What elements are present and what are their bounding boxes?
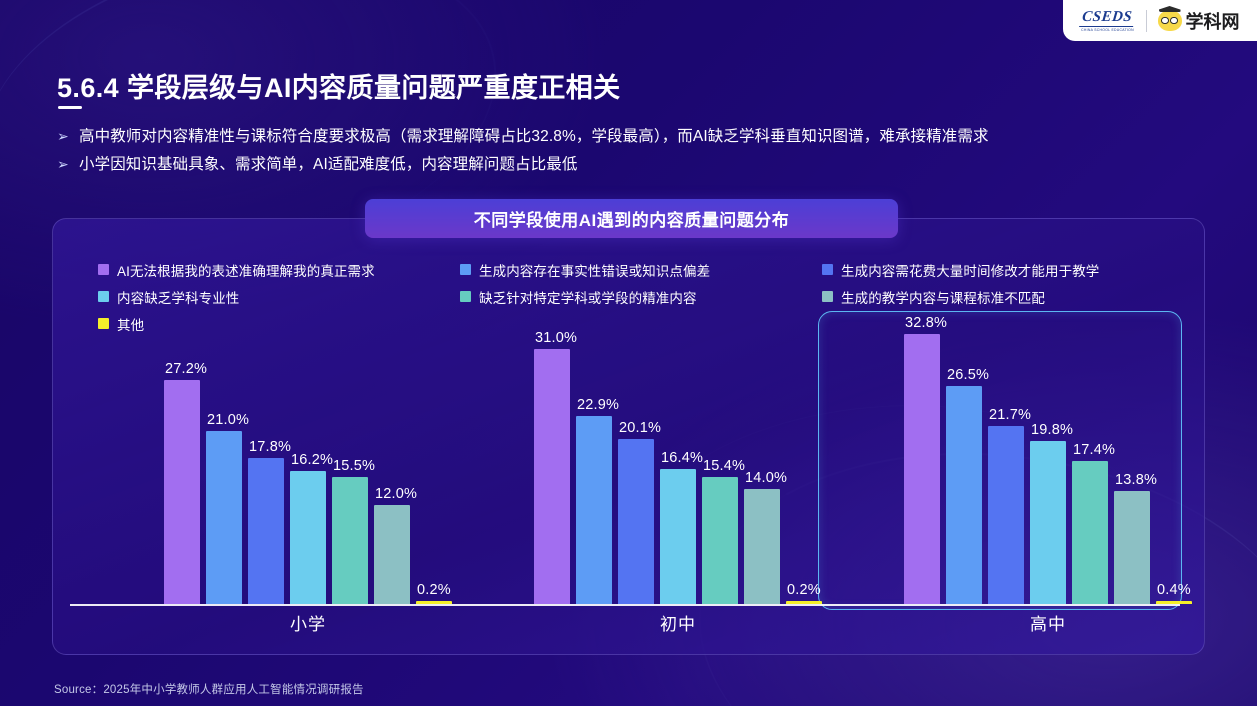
owl-eye-right: [1170, 17, 1178, 25]
bar[interactable]: [164, 380, 200, 604]
bar-group-bars: 27.2%21.0%17.8%16.2%15.5%12.0%0.2%: [164, 304, 452, 604]
bar-group-bars: 32.8%26.5%21.7%19.8%17.4%13.8%0.4%: [904, 304, 1192, 604]
bar[interactable]: [248, 458, 284, 604]
bar-column[interactable]: 22.9%: [576, 304, 612, 604]
x-axis-category-label: 小学: [164, 610, 452, 635]
bar-column[interactable]: 15.4%: [702, 304, 738, 604]
bar-chart-plot: 27.2%21.0%17.8%16.2%15.5%12.0%0.2%小学31.0…: [52, 218, 1205, 655]
bar-column[interactable]: 15.5%: [332, 304, 368, 604]
x-axis-category-label: 初中: [534, 610, 822, 635]
bar[interactable]: [744, 489, 780, 604]
owl-eye-left: [1161, 17, 1169, 25]
cseds-mark: CSEDS CHINA SCHOOL EDUCATION: [1080, 10, 1134, 32]
bar[interactable]: [1156, 601, 1192, 604]
bar-value-label: 32.8%: [905, 315, 947, 331]
bar-value-label: 16.4%: [661, 450, 703, 466]
page-title: 5.6.4 学段层级与AI内容质量问题严重度正相关: [57, 66, 621, 105]
bar-value-label: 17.8%: [249, 439, 291, 455]
chart-title-banner: 不同学段使用AI遇到的内容质量问题分布: [365, 199, 898, 238]
bar[interactable]: [618, 439, 654, 604]
cseds-mark-text: CSEDS: [1080, 10, 1136, 27]
bar-value-label: 31.0%: [535, 330, 577, 346]
bar[interactable]: [534, 349, 570, 604]
bar-group-高中: 32.8%26.5%21.7%19.8%17.4%13.8%0.4%高中: [904, 304, 1192, 604]
bar-group-初中: 31.0%22.9%20.1%16.4%15.4%14.0%0.2%初中: [534, 304, 822, 604]
bar-value-label: 0.2%: [787, 582, 821, 598]
bar-column[interactable]: 0.2%: [416, 304, 452, 604]
bar-column[interactable]: 16.2%: [290, 304, 326, 604]
bar-value-label: 27.2%: [165, 361, 207, 377]
bar-column[interactable]: 14.0%: [744, 304, 780, 604]
bar[interactable]: [290, 471, 326, 604]
bar-value-label: 14.0%: [745, 470, 787, 486]
bar-value-label: 0.2%: [417, 582, 451, 598]
bar-column[interactable]: 0.2%: [786, 304, 822, 604]
bar[interactable]: [660, 469, 696, 604]
bar[interactable]: [1114, 491, 1150, 604]
bullet-list: ➢ 高中教师对内容精准性与课标符合度要求极高（需求理解障碍占比32.8%，学段最…: [57, 126, 989, 182]
bar[interactable]: [946, 386, 982, 604]
bar-value-label: 21.0%: [207, 412, 249, 428]
bar[interactable]: [988, 426, 1024, 604]
bar-value-label: 26.5%: [947, 367, 989, 383]
chevron-right-icon: ➢: [57, 154, 79, 174]
bar[interactable]: [1072, 461, 1108, 604]
bar-value-label: 15.4%: [703, 458, 745, 474]
bar-column[interactable]: 31.0%: [534, 304, 570, 604]
bar-group-bars: 31.0%22.9%20.1%16.4%15.4%14.0%0.2%: [534, 304, 822, 604]
bar-value-label: 16.2%: [291, 452, 333, 468]
brand-logo-bar: CSEDS CHINA SCHOOL EDUCATION 学科网: [1063, 0, 1257, 41]
bar-value-label: 12.0%: [375, 486, 417, 502]
bar-value-label: 21.7%: [989, 407, 1031, 423]
title-underline: [58, 106, 82, 109]
bar[interactable]: [374, 505, 410, 604]
bar-value-label: 0.4%: [1157, 582, 1191, 598]
bar-value-label: 19.8%: [1031, 422, 1073, 438]
bar[interactable]: [1030, 441, 1066, 604]
bar[interactable]: [576, 416, 612, 604]
owl-graduate-icon: [1158, 10, 1182, 31]
bar[interactable]: [702, 477, 738, 604]
x-axis-line: [70, 604, 1180, 606]
bullet-item: ➢ 小学因知识基础具象、需求简单，AI适配难度低，内容理解问题占比最低: [57, 154, 989, 175]
bar[interactable]: [786, 601, 822, 604]
bullet-item: ➢ 高中教师对内容精准性与课标符合度要求极高（需求理解障碍占比32.8%，学段最…: [57, 126, 989, 147]
bar-column[interactable]: 21.0%: [206, 304, 242, 604]
bar-column[interactable]: 20.1%: [618, 304, 654, 604]
bar[interactable]: [206, 431, 242, 604]
xueke-brand: 学科网: [1158, 8, 1240, 34]
bar-column[interactable]: 19.8%: [1030, 304, 1066, 604]
brand-name-label: 学科网: [1186, 8, 1240, 34]
bar-column[interactable]: 21.7%: [988, 304, 1024, 604]
bar-column[interactable]: 26.5%: [946, 304, 982, 604]
bar[interactable]: [904, 334, 940, 604]
source-note: Source：2025年中小学教师人群应用人工智能情况调研报告: [54, 681, 364, 697]
bar-value-label: 17.4%: [1073, 442, 1115, 458]
bar-value-label: 13.8%: [1115, 472, 1157, 488]
chevron-right-icon: ➢: [57, 126, 79, 146]
bar-column[interactable]: 27.2%: [164, 304, 200, 604]
bar-group-小学: 27.2%21.0%17.8%16.2%15.5%12.0%0.2%小学: [164, 304, 452, 604]
bar-value-label: 15.5%: [333, 458, 375, 474]
bar-column[interactable]: 13.8%: [1114, 304, 1150, 604]
bar[interactable]: [332, 477, 368, 604]
bar-column[interactable]: 17.8%: [248, 304, 284, 604]
bullet-text: 小学因知识基础具象、需求简单，AI适配难度低，内容理解问题占比最低: [79, 154, 577, 175]
x-axis-category-label: 高中: [904, 610, 1192, 635]
bar-value-label: 20.1%: [619, 420, 661, 436]
cseds-mark-subtext: CHINA SCHOOL EDUCATION: [1081, 28, 1134, 32]
bar-column[interactable]: 16.4%: [660, 304, 696, 604]
logo-divider: [1146, 10, 1147, 32]
bar-column[interactable]: 0.4%: [1156, 304, 1192, 604]
bar-column[interactable]: 12.0%: [374, 304, 410, 604]
bar-column[interactable]: 17.4%: [1072, 304, 1108, 604]
bar-value-label: 22.9%: [577, 397, 619, 413]
bar[interactable]: [416, 601, 452, 604]
bar-column[interactable]: 32.8%: [904, 304, 940, 604]
bullet-text: 高中教师对内容精准性与课标符合度要求极高（需求理解障碍占比32.8%，学段最高）…: [79, 126, 989, 147]
